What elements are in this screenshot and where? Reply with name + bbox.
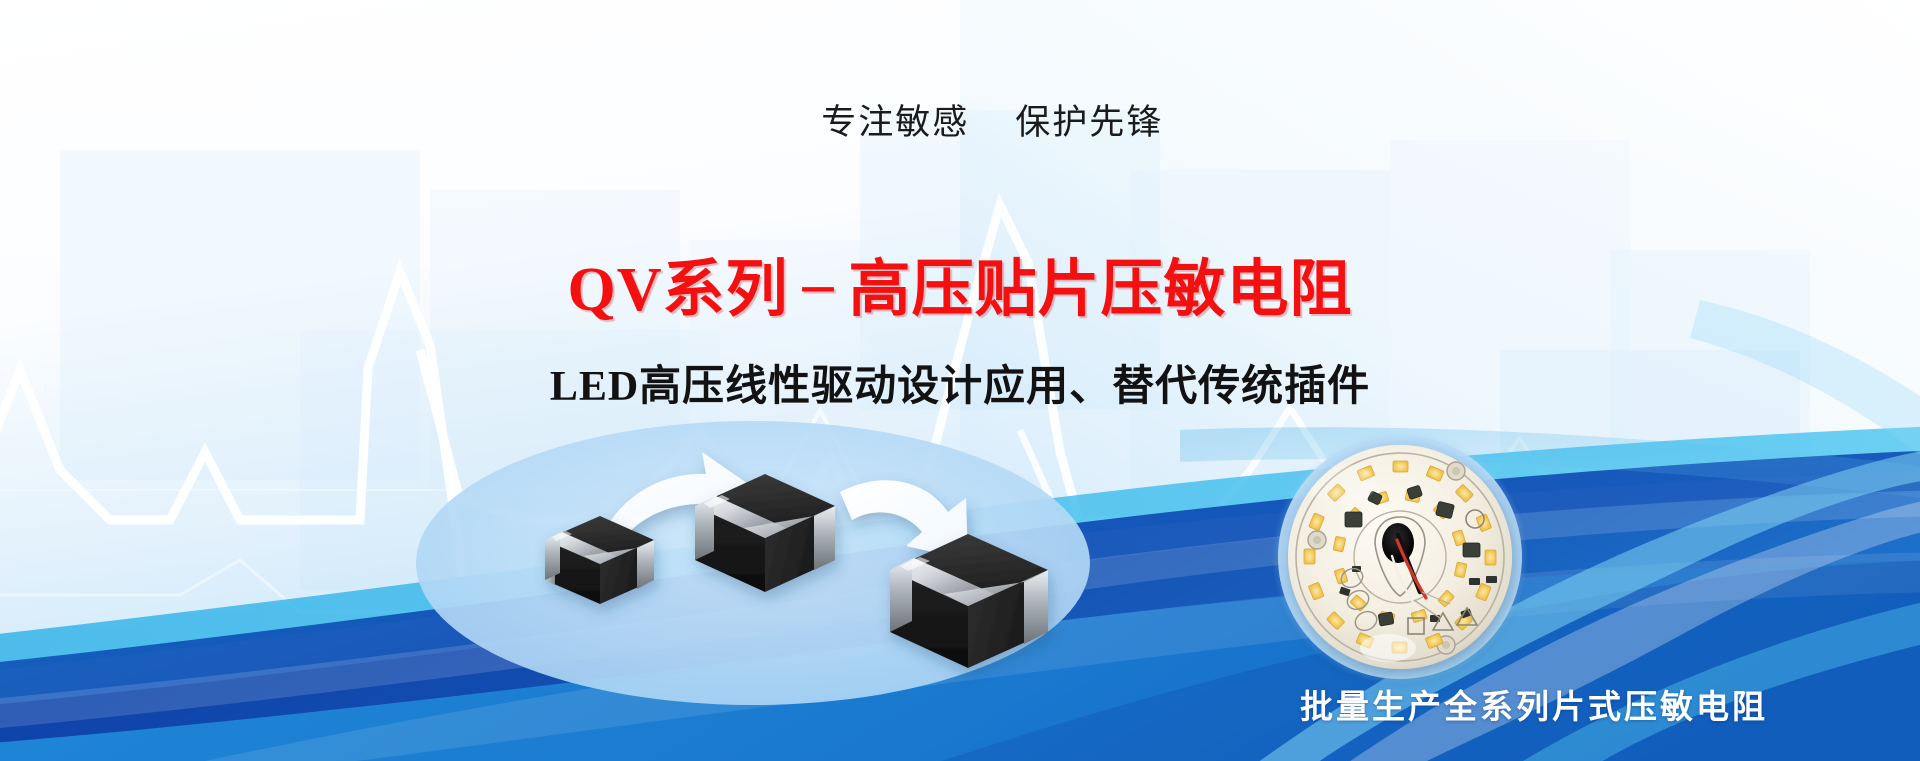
product-subheadline: LED高压线性驱动设计应用、替代传统插件: [0, 352, 1920, 413]
production-footnote: 批量生产全系列片式压敏电阻: [1300, 680, 1768, 728]
product-headline: QV系列–高压贴片压敏电阻: [0, 238, 1920, 328]
tagline-left: 专注敏感: [821, 103, 969, 142]
company-tagline: 专注敏感保护先锋: [0, 54, 1920, 185]
headline-dash: –: [789, 249, 849, 320]
tagline-right: 保护先锋: [1015, 103, 1163, 142]
headline-series-name: QV系列: [567, 256, 788, 324]
banner-text-layer: 专注敏感保护先锋 QV系列–高压贴片压敏电阻 LED高压线性驱动设计应用、替代传…: [0, 0, 1920, 761]
product-banner: 专注敏感保护先锋 QV系列–高压贴片压敏电阻 LED高压线性驱动设计应用、替代传…: [0, 0, 1920, 761]
headline-product-type: 高压贴片压敏电阻: [849, 256, 1353, 324]
